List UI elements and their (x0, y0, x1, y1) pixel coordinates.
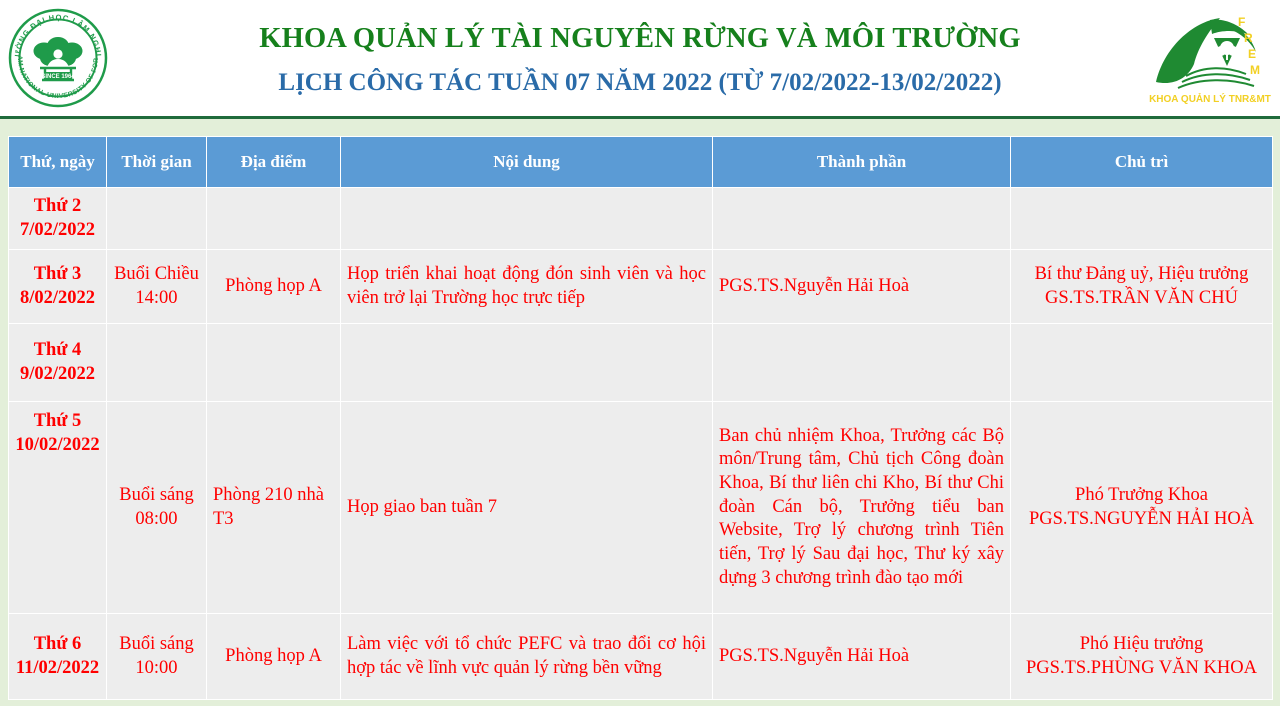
people-cell: Ban chủ nhiệm Khoa, Trưởng các Bộ môn/Tr… (713, 402, 1011, 614)
day-cell: Thứ 6 11/02/2022 (9, 614, 107, 700)
table-header-row: Thứ, ngày Thời gian Địa điểm Nội dung Th… (9, 137, 1273, 188)
day-cell: Thứ 2 7/02/2022 (9, 188, 107, 250)
people-cell (713, 188, 1011, 250)
day-label: Thứ 3 (15, 263, 100, 287)
column-header-chair: Chủ trì (1011, 137, 1273, 188)
chair-cell (1011, 188, 1273, 250)
column-header-content: Nội dung (341, 137, 713, 188)
column-header-place: Địa điểm (207, 137, 341, 188)
weekly-schedule-table: Thứ, ngày Thời gian Địa điểm Nội dung Th… (8, 136, 1273, 700)
day-cell: Thứ 3 8/02/2022 (9, 250, 107, 324)
vnuf-seal-logo: TRƯỜNG ĐẠI HỌC LÂM NGHIỆP VIETNAM NATION… (6, 6, 110, 110)
chair-name: PGS.TS.NGUYỄN HẢI HOÀ (1017, 508, 1266, 532)
column-header-time: Thời gian (107, 137, 207, 188)
date-label: 11/02/2022 (15, 657, 100, 681)
column-header-people: Thành phần (713, 137, 1011, 188)
chair-role: Phó Trưởng Khoa (1017, 484, 1266, 508)
place-cell: Phòng họp A (207, 614, 341, 700)
time-cell: Buổi sáng 08:00 (107, 402, 207, 614)
day-label: Thứ 2 (15, 195, 100, 219)
table-row: Thứ 2 7/02/2022 (9, 188, 1273, 250)
svg-text:SINCE 1964: SINCE 1964 (41, 74, 75, 80)
schedule-week-title: LỊCH CÔNG TÁC TUẦN 07 NĂM 2022 (TỪ 7/02/… (200, 69, 1080, 98)
table-row: Thứ 6 11/02/2022 Buổi sáng 10:00 Phòng h… (9, 614, 1273, 700)
header-titles: KHOA QUẢN LÝ TÀI NGUYÊN RỪNG VÀ MÔI TRƯỜ… (200, 19, 1080, 98)
content-cell (341, 324, 713, 402)
time-clock: 14:00 (113, 287, 200, 311)
content-cell: Họp giao ban tuần 7 (341, 402, 713, 614)
time-clock: 08:00 (113, 508, 200, 532)
chair-role: Bí thư Đảng uỷ, Hiệu trưởng (1017, 263, 1266, 287)
content-cell: Làm việc với tổ chức PEFC và trao đổi cơ… (341, 614, 713, 700)
time-cell (107, 188, 207, 250)
time-cell (107, 324, 207, 402)
svg-text:E: E (1248, 47, 1256, 61)
day-label: Thứ 5 (15, 410, 100, 434)
schedule-document-page: TRƯỜNG ĐẠI HỌC LÂM NGHIỆP VIETNAM NATION… (0, 0, 1280, 720)
time-cell: Buổi sáng 10:00 (107, 614, 207, 700)
time-period: Buổi sáng (113, 633, 200, 657)
time-period: Buổi Chiều (113, 263, 200, 287)
place-cell (207, 188, 341, 250)
table-row: Thứ 5 10/02/2022 Buổi sáng 08:00 Phòng 2… (9, 402, 1273, 614)
people-cell: PGS.TS.Nguyễn Hải Hoà (713, 614, 1011, 700)
chair-cell (1011, 324, 1273, 402)
time-period: Buổi sáng (113, 484, 200, 508)
time-cell: Buổi Chiều 14:00 (107, 250, 207, 324)
faculty-title: KHOA QUẢN LÝ TÀI NGUYÊN RỪNG VÀ MÔI TRƯỜ… (200, 23, 1080, 56)
content-cell: Họp triển khai hoạt động đón sinh viên v… (341, 250, 713, 324)
day-label: Thứ 4 (15, 339, 100, 363)
svg-text:KHOA QUẢN LÝ TNR&MT: KHOA QUẢN LÝ TNR&MT (1149, 92, 1271, 105)
content-cell (341, 188, 713, 250)
frem-logo: F R E M KHOA QUẢN LÝ TNR&MT (1148, 4, 1272, 112)
chair-name: GS.TS.TRẦN VĂN CHÚ (1017, 287, 1266, 311)
time-clock: 10:00 (113, 657, 200, 681)
people-cell (713, 324, 1011, 402)
place-cell: Phòng họp A (207, 250, 341, 324)
place-cell (207, 324, 341, 402)
day-cell: Thứ 4 9/02/2022 (9, 324, 107, 402)
column-header-day: Thứ, ngày (9, 137, 107, 188)
chair-cell: Phó Trưởng Khoa PGS.TS.NGUYỄN HẢI HOÀ (1011, 402, 1273, 614)
chair-name: PGS.TS.PHÙNG VĂN KHOA (1017, 657, 1266, 681)
day-cell: Thứ 5 10/02/2022 (9, 402, 107, 614)
date-label: 10/02/2022 (15, 434, 100, 458)
table-row: Thứ 4 9/02/2022 (9, 324, 1273, 402)
schedule-table-container: Thứ, ngày Thời gian Địa điểm Nội dung Th… (8, 136, 1272, 700)
vnuf-seal-icon: TRƯỜNG ĐẠI HỌC LÂM NGHIỆP VIETNAM NATION… (6, 6, 110, 110)
chair-role: Phó Hiệu trưởng (1017, 633, 1266, 657)
svg-text:F: F (1238, 15, 1245, 29)
chair-cell: Phó Hiệu trưởng PGS.TS.PHÙNG VĂN KHOA (1011, 614, 1273, 700)
date-label: 8/02/2022 (15, 287, 100, 311)
date-label: 7/02/2022 (15, 219, 100, 243)
people-cell: PGS.TS.Nguyễn Hải Hoà (713, 250, 1011, 324)
frem-logo-icon: F R E M KHOA QUẢN LÝ TNR&MT (1148, 4, 1272, 112)
day-label: Thứ 6 (15, 633, 100, 657)
date-label: 9/02/2022 (15, 363, 100, 387)
place-cell: Phòng 210 nhà T3 (207, 402, 341, 614)
document-header: TRƯỜNG ĐẠI HỌC LÂM NGHIỆP VIETNAM NATION… (0, 0, 1280, 116)
svg-text:R: R (1244, 31, 1253, 45)
chair-cell: Bí thư Đảng uỷ, Hiệu trưởng GS.TS.TRẦN V… (1011, 250, 1273, 324)
svg-text:M: M (1250, 63, 1260, 77)
table-row: Thứ 3 8/02/2022 Buổi Chiều 14:00 Phòng h… (9, 250, 1273, 324)
